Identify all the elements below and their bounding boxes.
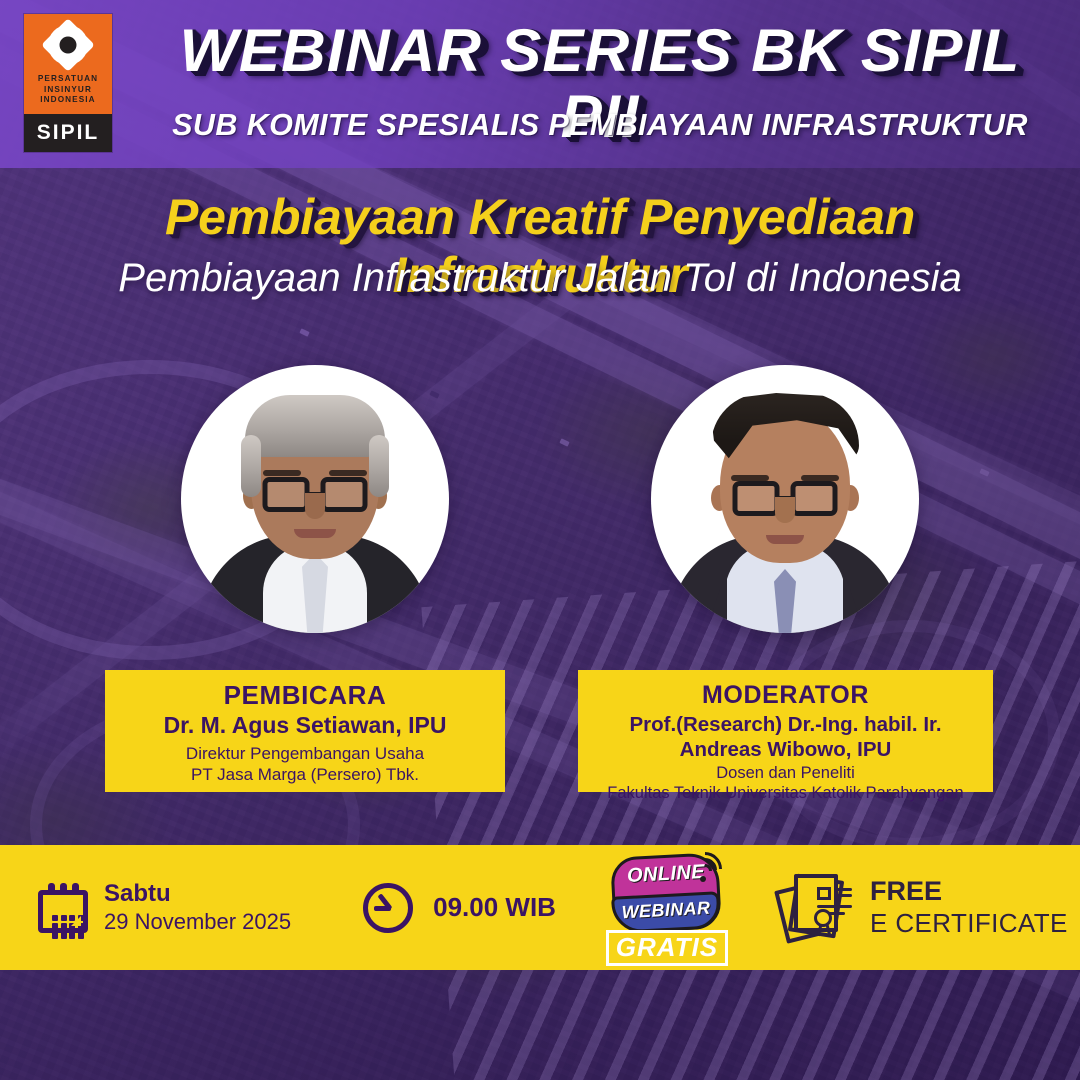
event-day: Sabtu [104,880,291,908]
logo-orange-block: PERSATUAN INSINYUR INDONESIA [24,14,112,114]
footer-bar: https://swiy.co/BKSipilPIIPembiayaanInfr… [0,970,1080,1080]
webinar-poster: PERSATUAN INSINYUR INDONESIA SIPIL WEBIN… [0,0,1080,1080]
date-block: Sabtu 29 November 2025 [0,880,291,935]
moderator-affiliation: Dosen dan Peneliti Fakultas Teknik Unive… [590,763,981,803]
time-block: 09.00 WIB [291,883,556,933]
event-time: 09.00 WIB [433,892,556,923]
moderator-card: MODERATOR Prof.(Research) Dr.-Ing. habil… [578,670,993,792]
moderator-portrait [651,365,919,633]
clock-icon [363,883,413,933]
info-bar: Sabtu 29 November 2025 09.00 WIB ONLINE … [0,845,1080,970]
certificate-block: FREE E CERTIFICATE [732,871,1068,945]
topic-subheadline: Pembiayaan Infrastruktur Jalan Tol di In… [40,256,1040,301]
speaker-role: PEMBICARA [117,680,493,710]
calendar-icon [38,883,88,933]
moderator-name: Prof.(Research) Dr.-Ing. habil. Ir. Andr… [590,712,981,762]
speaker-affiliation: Direktur Pengembangan Usaha PT Jasa Marg… [117,743,493,785]
free-label: FREE [870,876,1068,907]
webinar-subtitle: SUB KOMITE SPESIALIS PEMBIAYAAN INFRASTR… [150,108,1050,143]
header-band: PERSATUAN INSINYUR INDONESIA SIPIL WEBIN… [0,0,1080,168]
wifi-signal-icon [694,846,736,886]
speaker-card: PEMBICARA Dr. M. Agus Setiawan, IPU Dire… [105,670,505,792]
certificate-icon [780,871,852,945]
moderator-role: MODERATOR [590,680,981,710]
gratis-badge: GRATIS [606,930,728,966]
event-date: 29 November 2025 [104,908,291,935]
pii-emblem-icon [42,19,94,71]
online-webinar-badge: ONLINE WEBINAR GRATIS [602,850,732,966]
e-certificate-label: E CERTIFICATE [870,907,1068,939]
pii-logo: PERSATUAN INSINYUR INDONESIA SIPIL [24,14,112,152]
speaker-name: Dr. M. Agus Setiawan, IPU [117,712,493,739]
logo-division-label: SIPIL [24,114,112,152]
logo-org-name: PERSATUAN INSINYUR INDONESIA [38,74,98,106]
speaker-portrait [181,365,449,633]
